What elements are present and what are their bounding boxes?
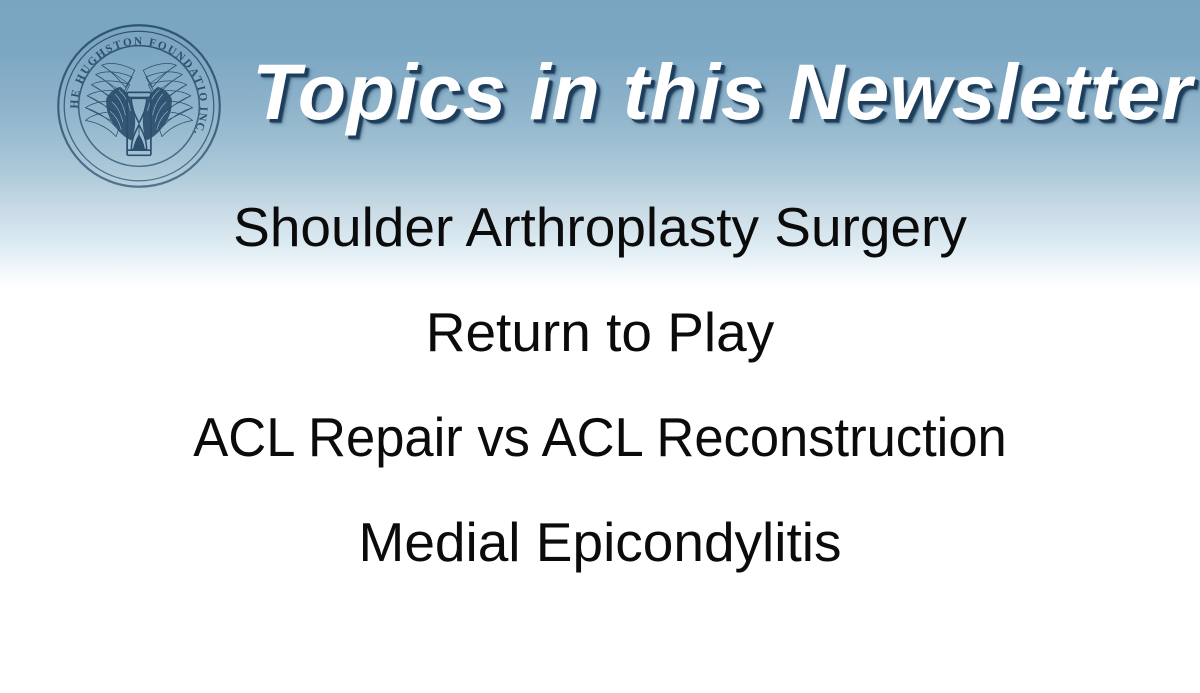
page-title: Topics in this Newsletter: [252, 52, 1152, 131]
list-item: ACL Repair vs ACL Reconstruction: [27, 406, 1173, 511]
list-item: Medial Epicondylitis: [0, 511, 1200, 616]
hughston-foundation-seal-icon: THE HUGHSTON FOUNDATION, INC.: [54, 21, 224, 191]
newsletter-topics-slide: THE HUGHSTON FOUNDATION, INC.: [0, 0, 1200, 693]
list-item: Shoulder Arthroplasty Surgery: [0, 196, 1200, 301]
list-item: Return to Play: [0, 301, 1200, 406]
topics-list: Shoulder Arthroplasty Surgery Return to …: [0, 196, 1200, 616]
